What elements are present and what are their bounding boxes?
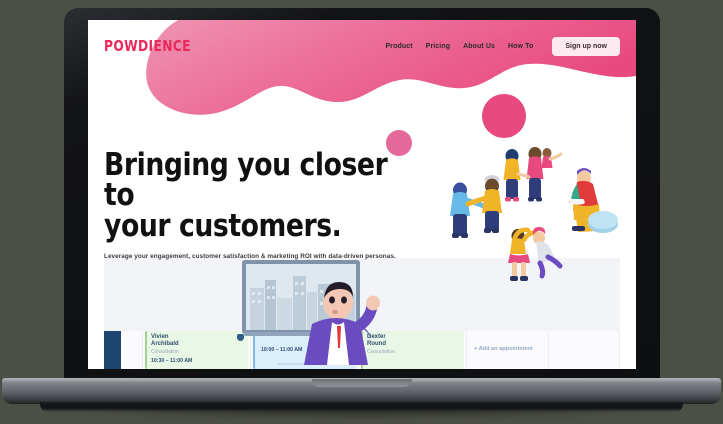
figure-children-bottom — [508, 227, 560, 281]
hero-section: Bringing you closer toyour customers. Le… — [104, 150, 434, 260]
brand-logo[interactable]: POWDIENCE — [104, 37, 191, 55]
event-time: 10:30 – 11:00 AM — [151, 358, 244, 364]
video-call-illustration — [240, 258, 396, 365]
laptop-notch — [312, 379, 412, 387]
nav-item-product[interactable]: Product — [386, 43, 413, 50]
nav-item-about-us[interactable]: About Us — [463, 43, 495, 50]
dashboard-sidebar[interactable] — [104, 331, 121, 369]
laptop-screen: POWDIENCE Product Pricing About Us How T… — [88, 20, 636, 369]
headline-line-2: your customers. — [104, 208, 341, 244]
hero-subtitle: Leverage your engagement, customer satis… — [104, 253, 434, 260]
event-name-line1: Vivien — [151, 334, 244, 341]
sign-up-button[interactable]: Sign up now — [552, 37, 620, 56]
calendar-column-add[interactable]: + Add an appointment — [467, 331, 549, 369]
nav-item-how-to[interactable]: How To — [508, 43, 533, 50]
nav-item-pricing[interactable]: Pricing — [426, 43, 450, 50]
people-illustration — [440, 138, 630, 288]
page-title: Bringing you closer toyour customers. — [104, 150, 388, 241]
website-page: POWDIENCE Product Pricing About Us How T… — [88, 20, 636, 369]
laptop-foot — [40, 402, 683, 412]
calendar-time-gutter — [121, 331, 143, 369]
event-name-line2: Archibald — [151, 341, 244, 348]
event-card-vivien[interactable]: Vivien Archibald Consultation 10:30 – 11… — [145, 331, 248, 369]
headline-line-1: Bringing you closer to — [104, 147, 387, 213]
calendar-column-1[interactable]: Vivien Archibald Consultation 10:30 – 11… — [143, 331, 251, 369]
figure-couple-top — [504, 147, 562, 202]
calendar-column-5[interactable] — [549, 331, 620, 369]
event-type: Consultation — [151, 349, 244, 355]
add-appointment-link[interactable]: + Add an appointment — [474, 346, 533, 352]
screenshot-stage: POWDIENCE Product Pricing About Us How T… — [0, 0, 723, 424]
site-header: POWDIENCE Product Pricing About Us How T… — [88, 20, 636, 72]
figure-seated-right — [570, 168, 618, 233]
figure-pair-left — [450, 175, 502, 238]
main-navigation: Product Pricing About Us How To Sign up … — [386, 37, 620, 56]
